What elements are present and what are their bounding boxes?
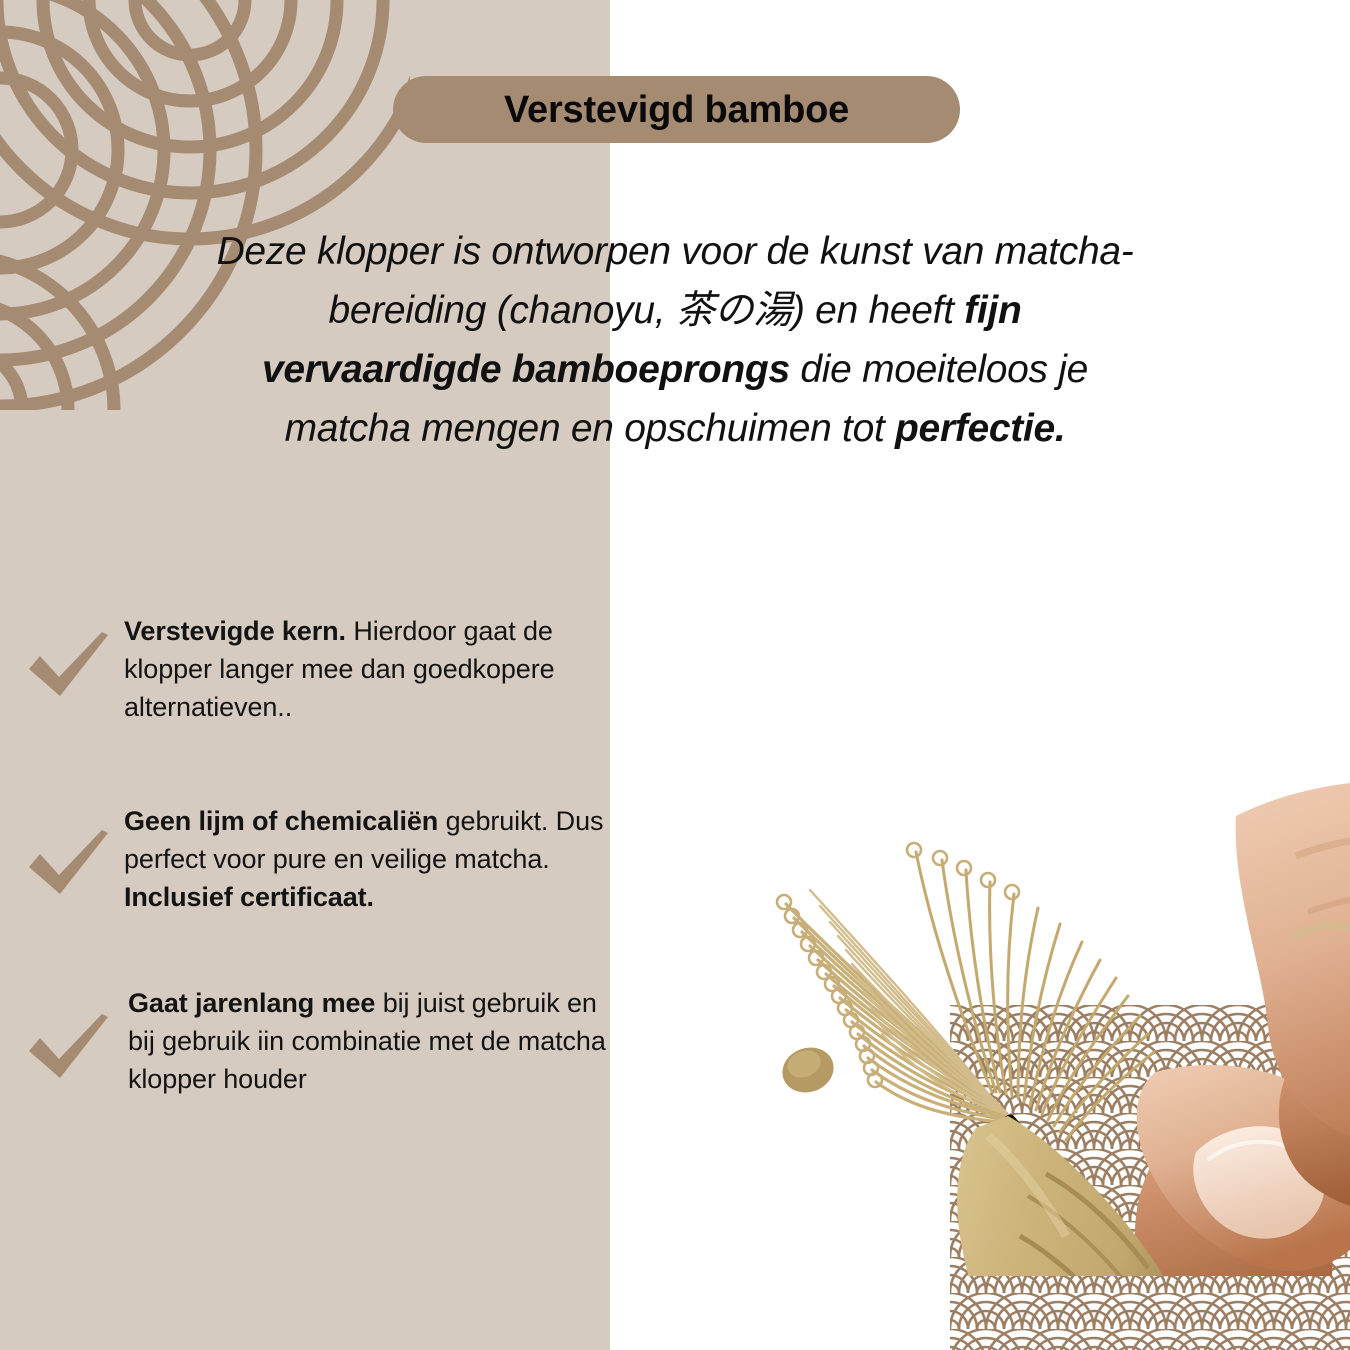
intro-line-5: opschuimen tot [624,407,895,450]
check-icon [24,1012,114,1090]
title-badge: Verstevigd bamboe [393,76,960,143]
list-item: Gaat jarenlang mee bij juist gebruik en … [0,978,610,1098]
intro-japanese-term: 茶の湯 [676,289,792,332]
intro-paragraph: Deze klopper is ontworpen voor de kunst … [205,222,1145,458]
list-item-text: Geen lijm of chemicaliën gebruikt. Dus p… [124,796,610,916]
intro-line-1: Deze klopper is ontworpen voor de kunst … [217,230,985,273]
poster-canvas: Verstevigd bamboe Deze klopper is ontwor… [0,0,1350,1350]
list-item: Geen lijm of chemicaliën gebruikt. Dus p… [0,796,610,916]
list-item-text: Verstevigde kern. Hierdoor gaat de klopp… [124,606,610,726]
list-item-tail: Inclusief certificaat. [124,882,374,912]
intro-line-3: die [790,348,852,391]
check-icon [24,630,114,708]
list-item-text: Gaat jarenlang mee bij juist gebruik en … [128,978,610,1098]
product-photo-matcha-whisk [596,636,1350,1276]
check-icon [24,828,114,906]
feature-list: Verstevigde kern. Hierdoor gaat de klopp… [0,606,610,1098]
page-title: Verstevigd bamboe [504,91,849,129]
intro-line-2b: ) en heeft [792,289,954,332]
list-item-lead: Verstevigde kern. [124,616,346,646]
list-item: Verstevigde kern. Hierdoor gaat de klopp… [0,606,610,726]
intro-bold-perfectie: perfectie. [895,407,1065,450]
whisk-tines [776,843,1154,1140]
list-item-lead: Geen lijm of chemicaliën [124,806,438,836]
list-item-lead: Gaat jarenlang mee [128,988,375,1018]
